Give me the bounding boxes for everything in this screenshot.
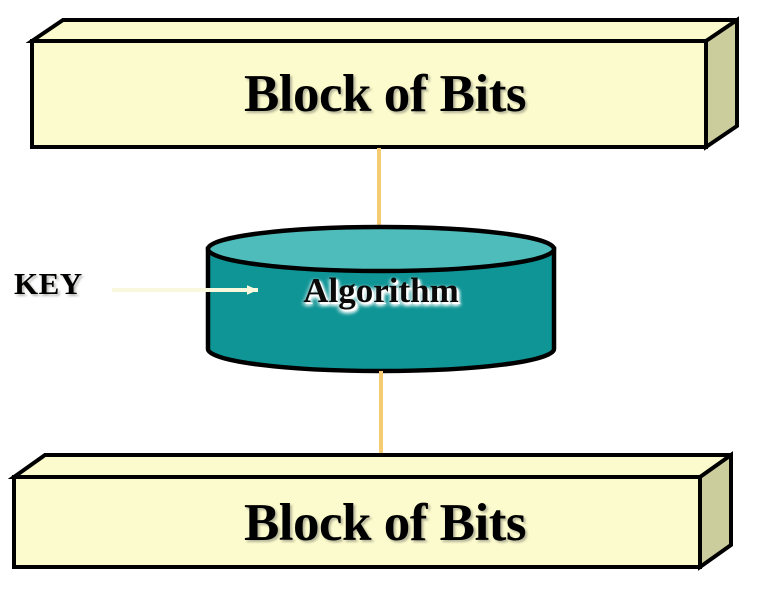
algorithm-cylinder-top [208,227,554,271]
input-block-label: Block of Bits [0,68,770,121]
diagram-canvas: Block of Bits Algorithm KEY Block of Bit… [0,0,770,594]
output-block-label: Block of Bits [0,497,770,550]
algorithm-label: Algorithm [208,273,554,308]
output-block-top-face [14,455,731,477]
key-label: KEY [14,268,83,299]
input-block-top-face [32,20,737,41]
